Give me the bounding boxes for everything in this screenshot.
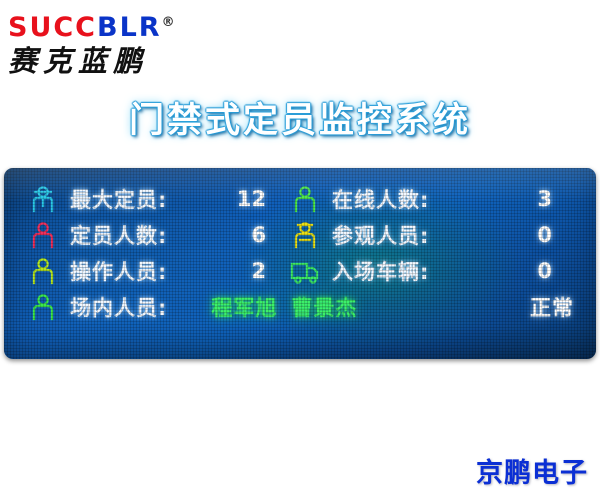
person-cap-icon <box>26 184 60 214</box>
status-badge: 正常 <box>530 292 596 322</box>
led-cell-visitor-count: 参观人员: 0 <box>284 220 574 250</box>
registered-trademark-icon: ® <box>162 15 175 30</box>
led-value: 6 <box>251 223 284 247</box>
person-icon <box>26 220 60 250</box>
led-row: 操作人员: 2 入场车辆: 0 <box>4 253 596 289</box>
led-cell-max-capacity: 最大定员: 12 <box>4 184 284 214</box>
brand-logo: SUCCBLR® 赛克蓝鹏 <box>8 8 218 74</box>
led-cell-quota-count: 定员人数: 6 <box>4 220 284 250</box>
led-cell-online-count: 在线人数: 3 <box>284 184 574 214</box>
led-label: 入场车辆: <box>332 256 429 286</box>
onsite-personnel-names: 程军旭曹景杰 <box>211 292 357 322</box>
led-label: 最大定员: <box>70 184 167 214</box>
led-row: 场内人员: 程军旭曹景杰 正常 <box>4 289 596 325</box>
led-value: 0 <box>537 259 574 283</box>
led-rows-container: 最大定员: 12 在线人数: 3 <box>4 181 596 325</box>
led-row: 定员人数: 6 参观人员: 0 <box>4 217 596 253</box>
led-label: 定员人数: <box>70 220 167 250</box>
led-row: 最大定员: 12 在线人数: 3 <box>4 181 596 217</box>
led-label: 操作人员: <box>70 256 167 286</box>
person-helmet-icon <box>288 220 322 250</box>
person-name: 程军旭 <box>211 296 277 320</box>
person-icon <box>288 184 322 214</box>
brand-chinese-name: 赛克蓝鹏 <box>8 44 218 78</box>
led-label: 场内人员: <box>70 292 167 322</box>
person-icon <box>26 292 60 322</box>
led-value: 3 <box>537 187 574 211</box>
led-value: 0 <box>537 223 574 247</box>
led-cell-onsite-personnel: 场内人员: 程军旭曹景杰 <box>4 292 434 322</box>
brand-wordmark-blue: BLR <box>97 12 162 43</box>
led-label: 在线人数: <box>332 184 429 214</box>
led-label: 参观人员: <box>332 220 429 250</box>
led-display-board: 最大定员: 12 在线人数: 3 <box>4 168 596 359</box>
brand-wordmark: SUCCBLR® <box>8 8 218 43</box>
person-icon <box>26 256 60 286</box>
page-title: 门禁式定员监控系统 <box>0 92 600 143</box>
led-cell-vehicle-count: 入场车辆: 0 <box>284 256 574 286</box>
brand-wordmark-red: SUCC <box>8 12 97 43</box>
led-value: 2 <box>251 259 284 283</box>
footer-company-logo: 京鹏电子 <box>476 451 588 490</box>
truck-icon <box>288 256 322 286</box>
person-name: 曹景杰 <box>291 296 357 320</box>
led-value: 12 <box>237 187 284 211</box>
led-cell-operator-count: 操作人员: 2 <box>4 256 284 286</box>
